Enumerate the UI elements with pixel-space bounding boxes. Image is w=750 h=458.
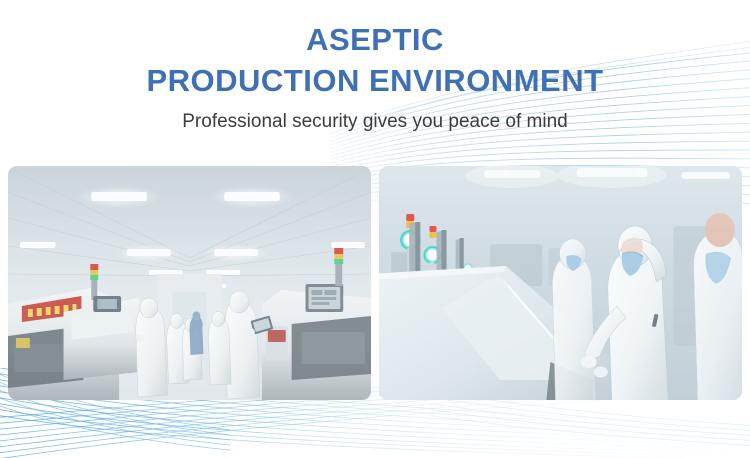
page-title-line-2: PRODUCTION ENVIRONMENT xyxy=(0,59,750,100)
photo-gallery xyxy=(8,166,742,400)
page-title-line-1: ASEPTIC xyxy=(0,0,750,59)
banner-header: ASEPTIC PRODUCTION ENVIRONMENT Professio… xyxy=(0,0,750,134)
page-subtitle: Professional security gives you peace of… xyxy=(0,99,750,134)
photo-cleanroom-production-line[interactable] xyxy=(8,166,371,400)
aseptic-production-banner: ASEPTIC PRODUCTION ENVIRONMENT Professio… xyxy=(0,0,750,458)
photo-cleanroom-operators-station[interactable] xyxy=(379,166,742,400)
